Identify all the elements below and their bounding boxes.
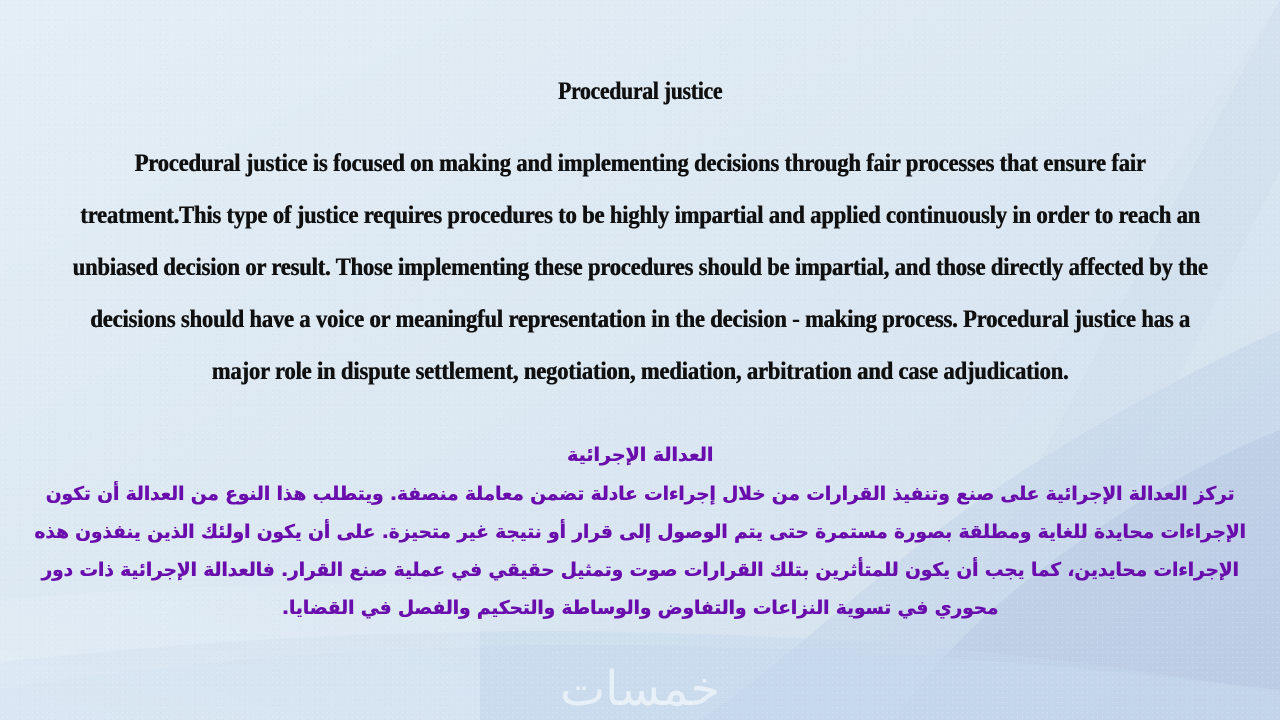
arabic-section: العدالة الإجرائية تركز العدالة الإجرائية… [0,440,1280,627]
slide-content: Procedural justice Procedural justice is… [0,0,1280,720]
english-section: Procedural justice Procedural justice is… [0,66,1280,398]
arabic-body-line: الإجراءات محايدين، كما يجب أن يكون للمتأ… [19,551,1261,589]
arabic-body: تركز العدالة الإجرائية على صنع وتنفيذ ال… [0,475,1280,627]
arabic-body-line: الإجراءات محايدة للغاية ومطلقة بصورة مست… [19,513,1261,551]
english-title: Procedural justice [90,66,1191,118]
english-body-line: treatment.This type of justice requires … [64,190,1216,242]
english-body-line: Procedural justice is focused on making … [64,138,1216,190]
arabic-body-line: محوري في تسوية النزاعات والتفاوض والوساط… [19,589,1261,627]
english-body-line: major role in dispute settlement, negoti… [64,346,1216,398]
arabic-body-line: تركز العدالة الإجرائية على صنع وتنفيذ ال… [19,475,1261,513]
slide-canvas: خمسات Procedural justice Procedural just… [0,0,1280,720]
arabic-title: العدالة الإجرائية [0,440,1280,470]
english-body-line: decisions should have a voice or meaning… [64,294,1216,346]
english-body: Procedural justice is focused on making … [0,138,1280,398]
english-body-line: unbiased decision or result. Those imple… [64,242,1216,294]
